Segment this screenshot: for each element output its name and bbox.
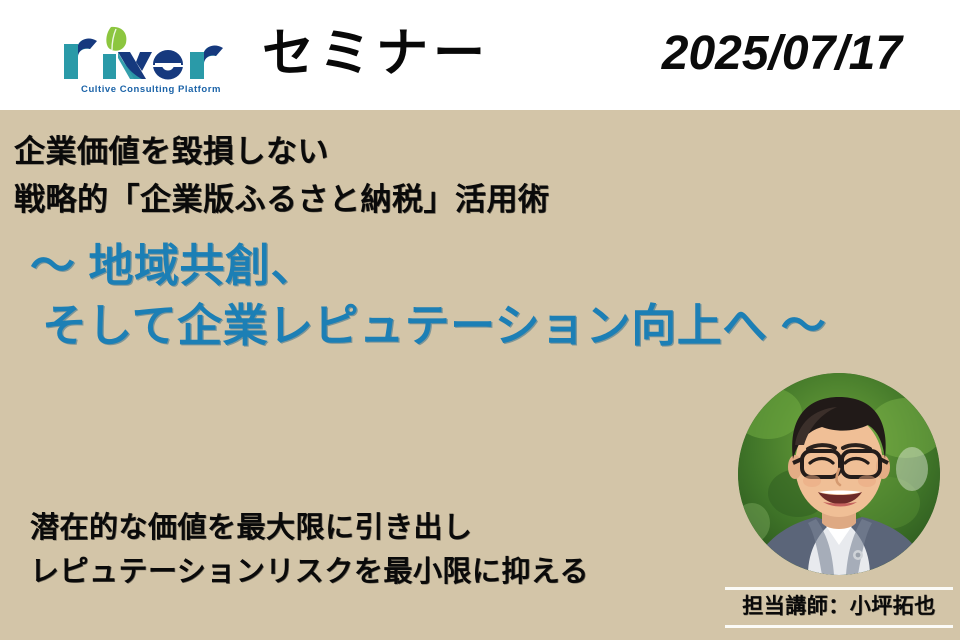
header-bar: Cultive Consulting Platform セミナー 2025/07… <box>0 0 960 110</box>
title-line-2: 戦略的「企業版ふるさと納税」活用術 <box>14 176 714 224</box>
seminar-banner: Cultive Consulting Platform セミナー 2025/07… <box>0 0 960 640</box>
presenter-label-text: 担当講師：小坪拓也 <box>725 594 953 620</box>
tagline-block: 潜在的な価値を最大限に引き出し レピュテーションリスクを最小限に抑える <box>30 506 730 594</box>
presenter-photo <box>738 373 940 575</box>
seminar-heading: セミナー <box>262 22 490 86</box>
tagline-line-2: レピュテーションリスクを最小限に抑える <box>30 550 730 594</box>
river-logo: Cultive Consulting Platform <box>56 24 246 104</box>
seminar-date: 2025/07/17 <box>662 24 902 84</box>
subtitle-line-2: そして企業レピュテーション向上へ 〜 <box>20 296 940 356</box>
presenter-label: 担当講師：小坪拓也 <box>725 587 953 628</box>
subtitle-block: 〜 地域共創、 そして企業レピュテーション向上へ 〜 <box>20 236 940 356</box>
title-block: 企業価値を毀損しない 戦略的「企業版ふるさと納税」活用術 <box>14 128 714 224</box>
tagline-line-1: 潜在的な価値を最大限に引き出し <box>30 506 730 550</box>
river-wordmark-icon <box>56 24 246 84</box>
content-area: 企業価値を毀損しない 戦略的「企業版ふるさと納税」活用術 〜 地域共創、 そして… <box>0 110 960 640</box>
logo-tagline: Cultive Consulting Platform <box>56 84 246 95</box>
subtitle-line-1: 〜 地域共創、 <box>20 236 940 296</box>
title-line-1: 企業価値を毀損しない <box>14 128 714 176</box>
